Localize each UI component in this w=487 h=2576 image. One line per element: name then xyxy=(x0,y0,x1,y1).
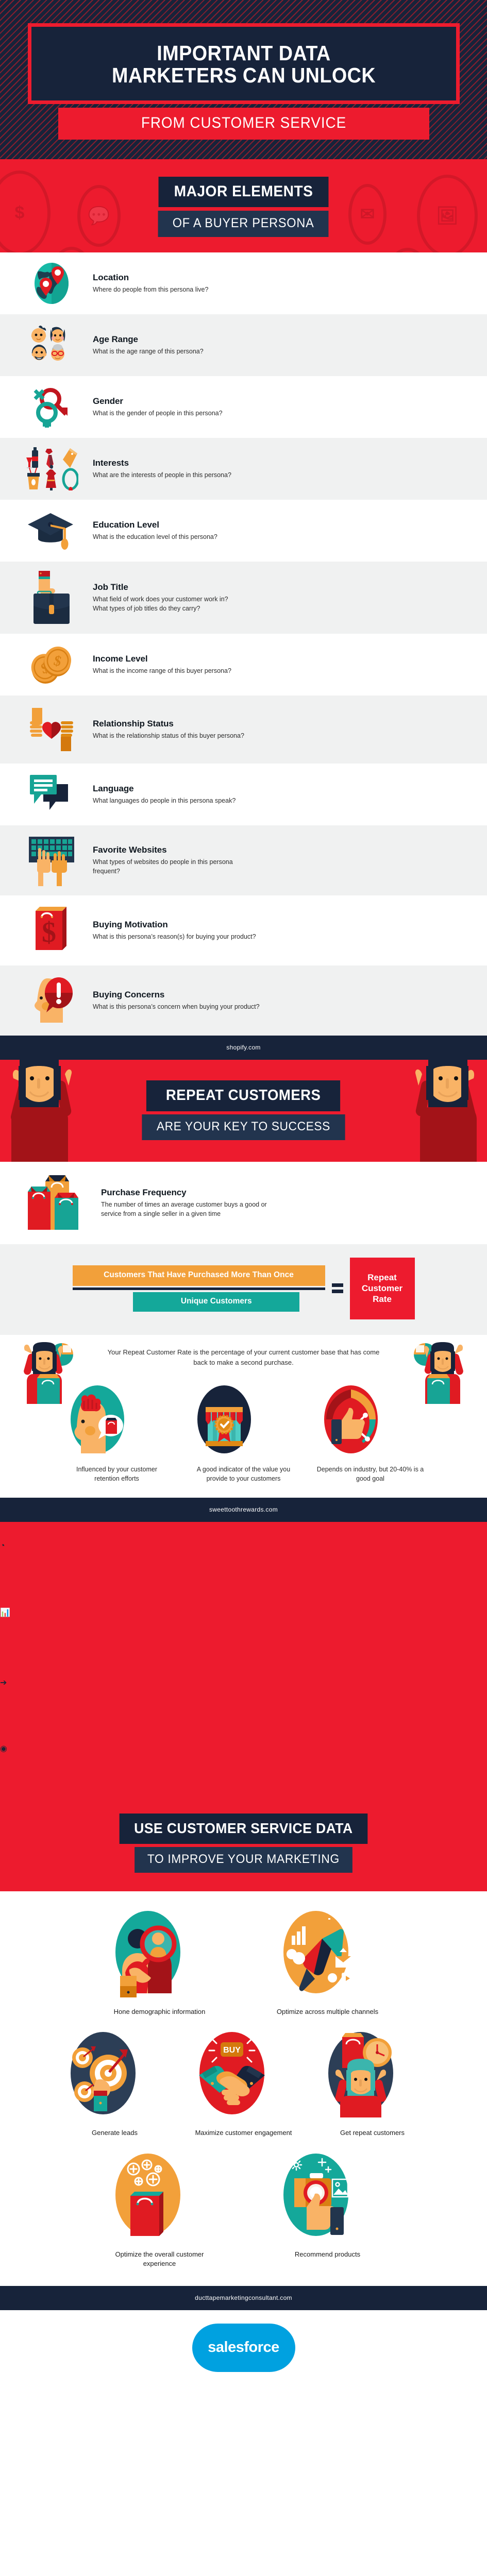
benefit-cell: Generate leads xyxy=(62,2026,168,2138)
keyboard-hands-icon xyxy=(23,835,80,886)
benefit-caption: Recommend products xyxy=(275,2250,381,2259)
fact-cell: A good indicator of the value you provid… xyxy=(190,1382,297,1483)
svg-text:$: $ xyxy=(42,917,56,948)
benefit-cell: Recommend products xyxy=(275,2147,381,2268)
persona-desc: What field of work does your customer wo… xyxy=(93,595,228,613)
benefit-caption: Maximize customer engagement xyxy=(191,2128,297,2138)
fact-caption: A good indicator of the value you provid… xyxy=(190,1465,297,1483)
fact-caption: Influenced by your customer retention ef… xyxy=(63,1465,171,1483)
hero-subtitle: FROM CUSTOMER SERVICE xyxy=(76,114,411,132)
persona-row-education-level: Education Level What is the education le… xyxy=(0,500,487,562)
benefit-caption: Get repeat customers xyxy=(320,2128,426,2138)
benefit-cell: Optimize the overall customer experience xyxy=(107,2147,213,2268)
benefits-row-2: Generate leads BUY xyxy=(26,2026,461,2138)
ghost-donut-chart-icon: ◉ xyxy=(0,1743,52,1814)
persona-desc: What types of websites do people in this… xyxy=(93,857,242,876)
ghost-gear-icon: ⚙ xyxy=(385,248,430,252)
persona-desc: What languages do people in this persona… xyxy=(93,796,236,805)
ghost-bar-chart-icon: 📊 xyxy=(0,1607,52,1677)
camera-thumbsup-icon xyxy=(275,2147,357,2245)
globe-location-pins-icon xyxy=(23,262,80,305)
benefit-cell: Get repeat customers xyxy=(320,2026,426,2138)
persona-row-location: Location Where do people from this perso… xyxy=(0,252,487,314)
persona-desc: What is this persona’s concern when buyi… xyxy=(93,1002,260,1011)
thumbs-up-gauge-icon xyxy=(317,1382,385,1460)
persona-title: Favorite Websites xyxy=(93,845,242,855)
persona-desc: Where do people from this persona live? xyxy=(93,285,208,294)
persona-title: Location xyxy=(93,273,208,283)
persona-row-buying-motivation: $ Buying Motivation What is this persona… xyxy=(0,895,487,965)
svg-text:BUY: BUY xyxy=(223,2046,241,2055)
ghost-plus-icon: ✚ xyxy=(49,247,94,252)
shopper-right-illustration xyxy=(405,1342,465,1404)
graduation-cap-icon xyxy=(23,509,80,552)
persona-desc: What is the relationship status of this … xyxy=(93,731,244,740)
persona-title: Relationship Status xyxy=(93,719,244,729)
briefcase-hand-icon xyxy=(23,571,80,624)
shopping-bag-dollar-icon: $ xyxy=(23,905,80,956)
persona-row-age-range: Age Range What is the age range of this … xyxy=(0,314,487,376)
equals-sign-icon xyxy=(332,1283,343,1293)
benefits-row-3: Optimize the overall customer experience xyxy=(26,2147,461,2268)
benefit-cell: BUY Maximize xyxy=(191,2026,297,2138)
benefit-caption: Hone demographic information xyxy=(107,2007,213,2016)
formula-fraction: Customers That Have Purchased More Than … xyxy=(73,1265,325,1312)
formula-denominator: Unique Customers xyxy=(133,1292,299,1312)
persona-band-title: MAJOR ELEMENTS xyxy=(159,177,329,207)
hands-heart-icon xyxy=(23,705,80,754)
head-exclamation-icon xyxy=(23,975,80,1026)
persona-desc: What is the income range of this buyer p… xyxy=(93,666,231,675)
repeat-customer-rate-explainer: Your Repeat Customer Rate is the percent… xyxy=(0,1335,487,1376)
megaphone-channels-icon xyxy=(275,1905,357,2003)
hero-banner: IMPORTANT DATA MARKETERS CAN UNLOCK FROM… xyxy=(0,0,487,159)
persona-row-language: Language What languages do people in thi… xyxy=(0,764,487,825)
persona-row-relationship-status: Relationship Status What is the relation… xyxy=(0,696,487,764)
cs-band-title: USE CUSTOMER SERVICE DATA xyxy=(120,1814,367,1844)
repeat-band-subtitle: ARE YOUR KEY TO SUCCESS xyxy=(142,1114,345,1140)
persona-row-buying-concerns: Buying Concerns What is this persona’s c… xyxy=(0,965,487,1036)
source-ducttapemarketingconsultant[interactable]: ducttapemarketingconsultant.com xyxy=(0,2286,487,2310)
persona-title: Buying Concerns xyxy=(93,990,260,1000)
persona-desc: What is the gender of people in this per… xyxy=(93,409,223,418)
hero-subtitle-banner: FROM CUSTOMER SERVICE xyxy=(58,108,429,140)
four-faces-ages-icon xyxy=(23,324,80,367)
benefits-row-1: Hone demographic information xyxy=(26,1905,461,2016)
benefits-grid: Hone demographic information xyxy=(0,1891,487,2286)
storefront-award-icon xyxy=(190,1382,258,1460)
persona-title: Interests xyxy=(93,458,231,468)
happy-customer-bag-clock-icon xyxy=(320,2026,402,2124)
ghost-pie-chart-icon: ◔ xyxy=(0,1541,47,1607)
formula-divider xyxy=(73,1287,325,1290)
persona-row-interests: Interests What are the interests of peop… xyxy=(0,438,487,500)
persona-title: Gender xyxy=(93,396,223,406)
speech-bubbles-icon xyxy=(23,773,80,816)
benefit-caption: Optimize across multiple channels xyxy=(275,2007,381,2016)
persona-row-favorite-websites: Favorite Websites What types of websites… xyxy=(0,825,487,895)
fact-caption: Depends on industry, but 20-40% is a goo… xyxy=(317,1465,424,1483)
persona-title: Education Level xyxy=(93,520,217,530)
gender-symbols-icon xyxy=(23,385,80,429)
persona-desc: What are the interests of people in this… xyxy=(93,470,231,480)
purchase-frequency-desc: The number of times an average customer … xyxy=(101,1200,276,1218)
repeat-customer-rate-formula: Customers That Have Purchased More Than … xyxy=(0,1244,487,1335)
cs-data-section-header: ◔ 📊 ➔ ◉ USE CUSTOMER SERVICE DATA TO IMP… xyxy=(0,1522,487,1891)
source-shopify[interactable]: shopify.com xyxy=(0,1036,487,1060)
hero-title-frame: IMPORTANT DATA MARKETERS CAN UNLOCK xyxy=(28,23,460,104)
source-sweettoothrewards[interactable]: sweettoothrewards.com xyxy=(0,1498,487,1522)
persona-title: Buying Motivation xyxy=(93,920,256,930)
formula-result: Repeat Customer Rate xyxy=(350,1258,415,1319)
lifestyle-items-icon xyxy=(23,447,80,490)
persona-row-job-title: Job Title What field of work does your c… xyxy=(0,562,487,634)
salesforce-logo-area: salesforce xyxy=(0,2310,487,2389)
persona-row-gender: Gender What is the gender of people in t… xyxy=(0,376,487,438)
persona-desc: What is the age range of this persona? xyxy=(93,347,204,356)
persona-section-header: $ 💬 ✚ ✉ 🖼 ⚙ MAJOR ELEMENTS OF A BUYER PE… xyxy=(0,159,487,252)
persona-title: Income Level xyxy=(93,654,231,664)
targets-arrow-icon xyxy=(62,2026,144,2124)
salesforce-logo[interactable]: salesforce xyxy=(192,2324,295,2372)
repeat-band-title: REPEAT CUSTOMERS xyxy=(146,1080,340,1111)
benefit-caption: Optimize the overall customer experience xyxy=(107,2250,213,2268)
benefit-cell: Hone demographic information xyxy=(107,1905,213,2016)
salesforce-wordmark: salesforce xyxy=(208,2339,279,2356)
hero-title-line-2: MARKETERS CAN UNLOCK xyxy=(60,64,428,87)
purchase-frequency-title: Purchase Frequency xyxy=(101,1188,276,1198)
persona-list: Location Where do people from this perso… xyxy=(0,252,487,1036)
shopper-left-illustration xyxy=(22,1342,82,1404)
cs-band-subtitle: TO IMPROVE YOUR MARKETING xyxy=(135,1847,352,1873)
shopping-bags-icon xyxy=(23,1174,89,1232)
persona-title: Language xyxy=(93,784,236,794)
repeat-customer-rate-text: Your Repeat Customer Rate is the percent… xyxy=(105,1347,383,1368)
hero-title-line-1: IMPORTANT DATA xyxy=(60,42,428,64)
persona-desc: What is this persona’s reason(s) for buy… xyxy=(93,932,256,941)
shopping-bag-plus-icon xyxy=(107,2147,189,2245)
persona-row-income-level: $ $ Income Level What is the income rang… xyxy=(0,634,487,696)
benefit-caption: Generate leads xyxy=(62,2128,168,2138)
repeat-customers-header: REPEAT CUSTOMERS ARE YOUR KEY TO SUCCESS xyxy=(0,1060,487,1162)
formula-numerator: Customers That Have Purchased More Than … xyxy=(73,1265,325,1286)
purchase-frequency-row: Purchase Frequency The number of times a… xyxy=(0,1162,487,1244)
dollar-coins-icon: $ $ xyxy=(23,643,80,686)
persona-desc: What is the education level of this pers… xyxy=(93,532,217,541)
magnifier-people-icon xyxy=(107,1905,189,2003)
persona-title: Age Range xyxy=(93,334,204,345)
handshake-buy-icon: BUY xyxy=(191,2026,273,2124)
ghost-cursor-icon: ➔ xyxy=(0,1677,47,1743)
persona-band-subtitle: OF A BUYER PERSONA xyxy=(158,211,329,237)
benefit-cell: Optimize across multiple channels xyxy=(275,1905,381,2016)
persona-title: Job Title xyxy=(93,582,228,592)
